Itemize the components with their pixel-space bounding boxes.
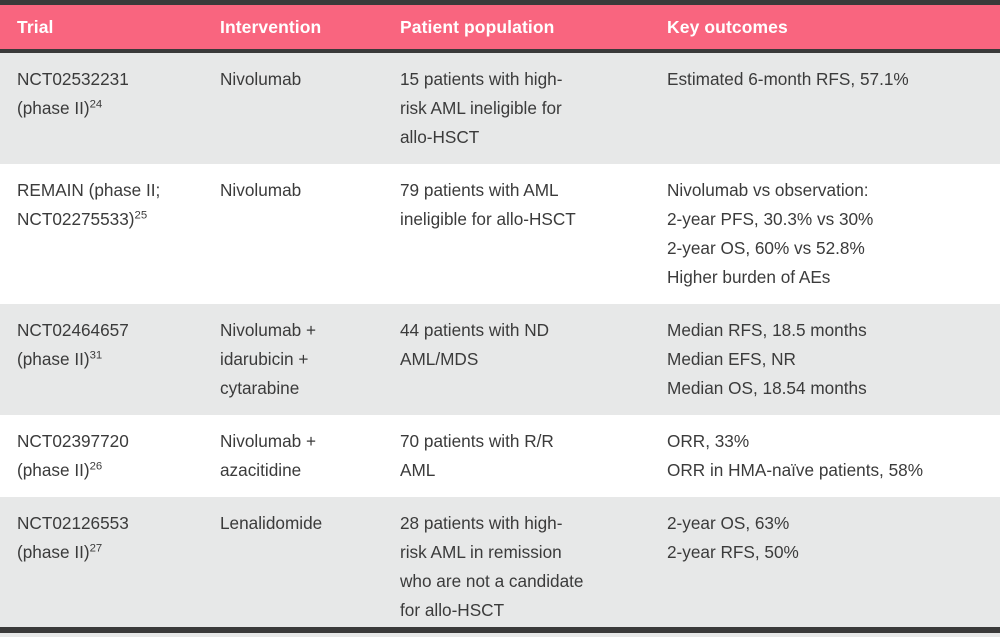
cell-trial: NCT02532231(phase II)24 [0, 53, 202, 164]
cell-line: Median EFS, NR [667, 345, 988, 374]
cell-patient-population: 79 patients with AMLineligible for allo-… [382, 164, 649, 304]
trial-phase: (phase II)27 [17, 538, 192, 567]
table-row: NCT02464657(phase II)31Nivolumab +idarub… [0, 304, 1000, 415]
cell-trial: NCT02464657(phase II)31 [0, 304, 202, 415]
table-bottom-rule [0, 627, 1000, 633]
trial-identifier: REMAIN (phase II; [17, 176, 192, 205]
cell-line: 2-year RFS, 50% [667, 538, 988, 567]
cell-line: 44 patients with ND [400, 316, 637, 345]
cell-line: Median OS, 18.54 months [667, 374, 988, 403]
cell-key-outcomes: Median RFS, 18.5 monthsMedian EFS, NRMed… [649, 304, 1000, 415]
cell-patient-population: 44 patients with NDAML/MDS [382, 304, 649, 415]
trial-phase: (phase II)24 [17, 94, 192, 123]
cell-line: risk AML in remission [400, 538, 637, 567]
cell-line: AML [400, 456, 637, 485]
cell-intervention: Nivolumab +azacitidine [202, 415, 382, 497]
cell-line: AML/MDS [400, 345, 637, 374]
cell-line: risk AML ineligible for [400, 94, 637, 123]
cell-line: 2-year OS, 60% vs 52.8% [667, 234, 988, 263]
cell-intervention: Nivolumab [202, 164, 382, 304]
clinical-trials-table: Trial Intervention Patient population Ke… [0, 0, 1000, 633]
column-header-intervention: Intervention [202, 17, 382, 38]
cell-patient-population: 15 patients with high-risk AML ineligibl… [382, 53, 649, 164]
reference-superscript: 27 [90, 542, 103, 554]
trial-phase-text: (phase II) [17, 98, 90, 118]
reference-superscript: 25 [135, 209, 148, 221]
cell-patient-population: 70 patients with R/RAML [382, 415, 649, 497]
cell-key-outcomes: 2-year OS, 63%2-year RFS, 50% [649, 497, 1000, 637]
cell-key-outcomes: Estimated 6-month RFS, 57.1% [649, 53, 1000, 164]
cell-trial: NCT02126553(phase II)27 [0, 497, 202, 637]
cell-trial: NCT02397720(phase II)26 [0, 415, 202, 497]
cell-line: 2-year PFS, 30.3% vs 30% [667, 205, 988, 234]
trial-phase-text: (phase II) [17, 542, 90, 562]
cell-line: azacitidine [220, 456, 372, 485]
cell-key-outcomes: Nivolumab vs observation:2-year PFS, 30.… [649, 164, 1000, 304]
trial-phase: NCT02275533)25 [17, 205, 192, 234]
cell-line: Higher burden of AEs [667, 263, 988, 292]
cell-line: Nivolumab vs observation: [667, 176, 988, 205]
cell-line: 28 patients with high- [400, 509, 637, 538]
trial-identifier: NCT02532231 [17, 65, 192, 94]
cell-line: Estimated 6-month RFS, 57.1% [667, 65, 988, 94]
cell-intervention: Lenalidomide [202, 497, 382, 637]
trial-identifier: NCT02397720 [17, 427, 192, 456]
cell-line: Median RFS, 18.5 months [667, 316, 988, 345]
trial-phase-text: (phase II) [17, 460, 90, 480]
cell-intervention: Nivolumab [202, 53, 382, 164]
table-row: NCT02532231(phase II)24Nivolumab15 patie… [0, 53, 1000, 164]
table-header-row: Trial Intervention Patient population Ke… [0, 5, 1000, 49]
reference-superscript: 31 [90, 349, 103, 361]
cell-line: 2-year OS, 63% [667, 509, 988, 538]
column-header-patient-population: Patient population [382, 17, 649, 38]
cell-line: allo-HSCT [400, 123, 637, 152]
table-row: NCT02397720(phase II)26Nivolumab +azacit… [0, 415, 1000, 497]
trial-identifier: NCT02464657 [17, 316, 192, 345]
cell-line: 79 patients with AML [400, 176, 637, 205]
reference-superscript: 26 [90, 460, 103, 472]
column-header-key-outcomes: Key outcomes [649, 17, 1000, 38]
cell-trial: REMAIN (phase II;NCT02275533)25 [0, 164, 202, 304]
trial-phase-text: (phase II) [17, 349, 90, 369]
cell-line: Nivolumab [220, 65, 372, 94]
trial-identifier: NCT02126553 [17, 509, 192, 538]
cell-line: Nivolumab + [220, 316, 372, 345]
cell-line: 15 patients with high- [400, 65, 637, 94]
trial-phase: (phase II)31 [17, 345, 192, 374]
cell-line: Nivolumab + [220, 427, 372, 456]
table-row: NCT02126553(phase II)27Lenalidomide28 pa… [0, 497, 1000, 637]
cell-line: Nivolumab [220, 176, 372, 205]
cell-line: ORR in HMA-naïve patients, 58% [667, 456, 988, 485]
cell-line: cytarabine [220, 374, 372, 403]
cell-intervention: Nivolumab +idarubicin +cytarabine [202, 304, 382, 415]
table-body: NCT02532231(phase II)24Nivolumab15 patie… [0, 53, 1000, 637]
cell-line: ORR, 33% [667, 427, 988, 456]
cell-line: 70 patients with R/R [400, 427, 637, 456]
cell-line: who are not a candidate [400, 567, 637, 596]
trial-phase: (phase II)26 [17, 456, 192, 485]
reference-superscript: 24 [90, 98, 103, 110]
column-header-trial: Trial [0, 17, 202, 38]
cell-patient-population: 28 patients with high-risk AML in remiss… [382, 497, 649, 637]
cell-line: idarubicin + [220, 345, 372, 374]
cell-key-outcomes: ORR, 33%ORR in HMA-naïve patients, 58% [649, 415, 1000, 497]
table-row: REMAIN (phase II;NCT02275533)25Nivolumab… [0, 164, 1000, 304]
cell-line: for allo-HSCT [400, 596, 637, 625]
trial-phase-text: NCT02275533) [17, 209, 135, 229]
cell-line: Lenalidomide [220, 509, 372, 538]
cell-line: ineligible for allo-HSCT [400, 205, 637, 234]
